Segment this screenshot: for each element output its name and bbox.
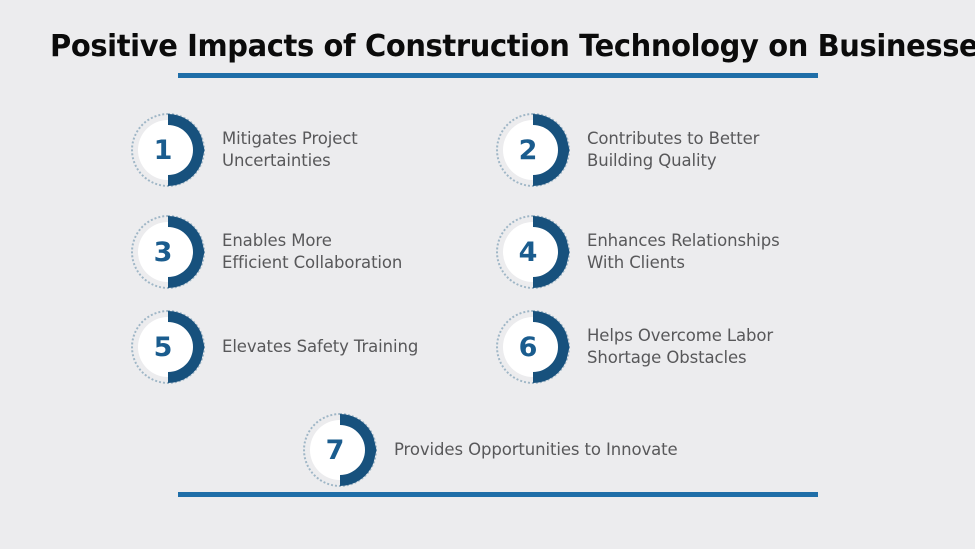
item-label: Enables More Efficient Collaboration <box>222 230 402 274</box>
item-label: Enhances Relationships With Clients <box>587 230 780 274</box>
list-item[interactable]: 1 Mitigates Project Uncertainties <box>131 113 358 187</box>
number-badge: 4 <box>496 215 570 289</box>
badge-number: 1 <box>131 113 193 187</box>
item-label: Elevates Safety Training <box>222 336 418 358</box>
badge-number: 2 <box>496 113 558 187</box>
list-item[interactable]: 6 Helps Overcome Labor Shortage Obstacle… <box>496 310 773 384</box>
list-item[interactable]: 5 Elevates Safety Training <box>131 310 418 384</box>
badge-number: 5 <box>131 310 193 384</box>
list-item[interactable]: 4 Enhances Relationships With Clients <box>496 215 780 289</box>
number-badge: 1 <box>131 113 205 187</box>
item-label: Provides Opportunities to Innovate <box>394 439 678 461</box>
number-badge: 5 <box>131 310 205 384</box>
number-badge: 7 <box>303 413 377 487</box>
list-item[interactable]: 3 Enables More Efficient Collaboration <box>131 215 402 289</box>
badge-number: 7 <box>303 413 365 487</box>
badge-number: 6 <box>496 310 558 384</box>
list-item[interactable]: 2 Contributes to Better Building Quality <box>496 113 759 187</box>
number-badge: 6 <box>496 310 570 384</box>
number-badge: 2 <box>496 113 570 187</box>
item-label: Helps Overcome Labor Shortage Obstacles <box>587 325 773 369</box>
item-label: Contributes to Better Building Quality <box>587 128 759 172</box>
number-badge: 3 <box>131 215 205 289</box>
impact-list: 1 Mitigates Project Uncertainties 2 Cont… <box>0 0 975 549</box>
slide-canvas: Positive Impacts of Construction Technol… <box>0 0 975 549</box>
badge-number: 3 <box>131 215 193 289</box>
item-label: Mitigates Project Uncertainties <box>222 128 358 172</box>
badge-number: 4 <box>496 215 558 289</box>
list-item[interactable]: 7 Provides Opportunities to Innovate <box>303 413 678 487</box>
